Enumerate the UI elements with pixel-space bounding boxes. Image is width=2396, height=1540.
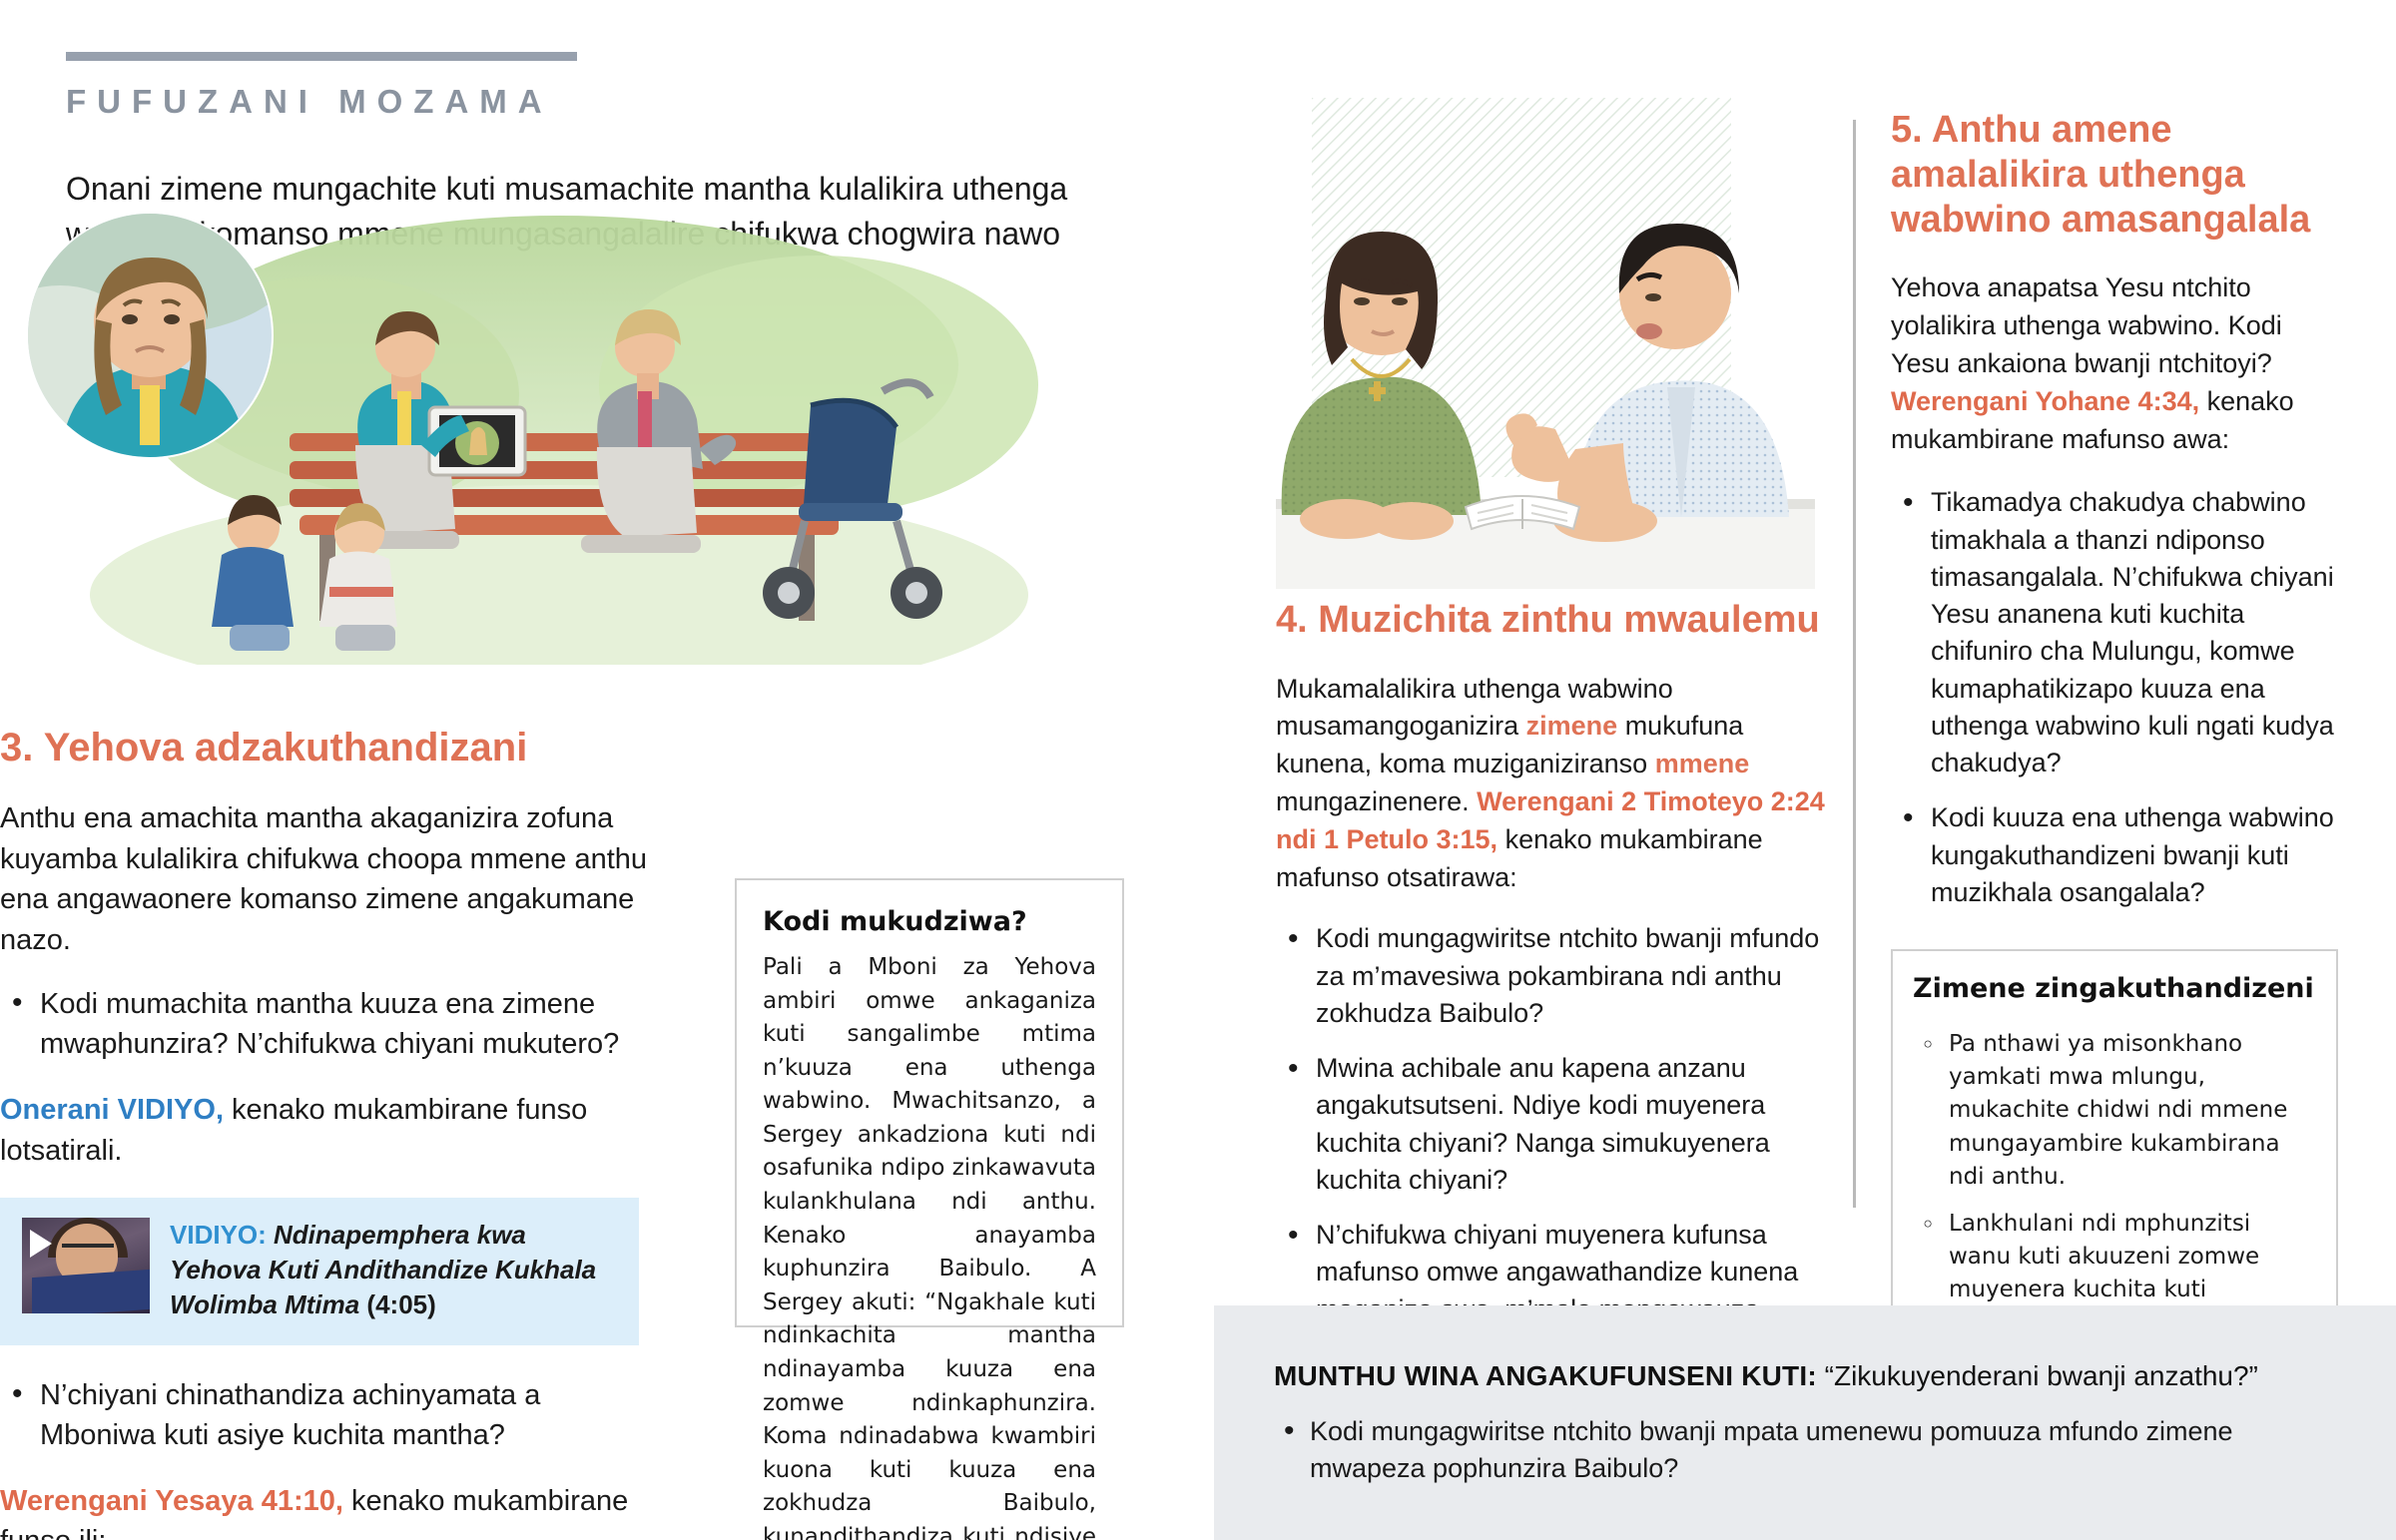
list-item: Kodi mungagwiritse ntchito bwanji mfundo… (1276, 920, 1845, 1032)
video-caption: VIDIYO: Ndinapemphera kwa Yehova Kuti An… (170, 1218, 617, 1323)
scripture-cue: Werengani Yesaya 41:10, kenako mukambira… (0, 1481, 659, 1540)
footer-heading: MUNTHU WINA ANGAKUFUNSENI KUTI: “Zikukuy… (1274, 1357, 2336, 1395)
kicker-rule (66, 52, 577, 61)
section-3-bullet-list-1: Kodi mumachita mantha kuuza ena zimene m… (0, 984, 659, 1064)
footer-label: MUNTHU WINA ANGAKUFUNSENI KUTI: (1274, 1360, 1817, 1391)
helps-box-heading: Zimene zingakuthandizeni (1913, 973, 2314, 1004)
s4-highlight-mmene: mmene (1655, 749, 1750, 778)
section-kicker: FUFUZANI MOZAMA (66, 83, 1176, 121)
list-item: Mwina achibale anu kapena anzanu angakut… (1276, 1050, 1845, 1199)
video-cue: Onerani VIDIYO, kenako mukambirane funso… (0, 1090, 659, 1171)
s4-highlight-zimene: zimene (1526, 711, 1618, 741)
column-divider (1853, 120, 1856, 1208)
section-3-paragraph: Anthu ena amachita mantha akaganizira zo… (0, 798, 659, 960)
section-3-heading: 3. Yehova adzakuthandizani (0, 725, 659, 770)
list-item: Kodi mungagwiritse ntchito bwanji mpata … (1274, 1413, 2336, 1486)
glasses-icon (62, 1244, 114, 1256)
s5-scripture-reference-link[interactable]: Werengani Yohane 4:34, (1891, 386, 2199, 416)
section-4: 4. Muzichita zinthu mwaulemu Mukamalalik… (1276, 599, 1845, 1383)
list-item: Kodi mumachita mantha kuuza ena zimene m… (0, 984, 659, 1064)
list-item: N’chiyani chinathandiza achinyamata a Mb… (0, 1375, 659, 1455)
section-4-paragraph: Mukamalalikira uthenga wabwino musamango… (1276, 671, 1845, 897)
list-item: Tikamadya chakudya chabwino timakhala a … (1891, 484, 2338, 781)
section-5-bullet-list: Tikamadya chakudya chabwino timakhala a … (1891, 484, 2338, 911)
did-you-know-heading: Kodi mukudziwa? (763, 906, 1096, 937)
watch-video-link[interactable]: Onerani VIDIYO, (0, 1094, 224, 1126)
footer-quote: “Zikukuyenderani bwanji anzathu?” (1817, 1360, 2258, 1391)
section-3-bullet-list-2: N’chiyani chinathandiza achinyamata a Mb… (0, 1375, 659, 1455)
conversation-starter-band: MUNTHU WINA ANGAKUFUNSENI KUTI: “Zikukuy… (1214, 1305, 2396, 1540)
list-item: Pa nthawi ya misonkhano yamkati mwa mlun… (1913, 1028, 2314, 1194)
section-3: 3. Yehova adzakuthandizani Anthu ena ama… (0, 725, 659, 1540)
section-5-paragraph: Yehova anapatsa Yesu ntchito yolalikira … (1891, 269, 2338, 458)
scripture-reference-link[interactable]: Werengani Yesaya 41:10, (0, 1485, 343, 1517)
did-you-know-box: Kodi mukudziwa? Pali a Mboni za Yehova a… (735, 878, 1124, 1327)
video-thumbnail[interactable] (22, 1218, 150, 1313)
list-item: Kodi kuuza ena uthenga wabwino kungakuth… (1891, 799, 2338, 911)
did-you-know-body: Pali a Mboni za Yehova ambiri omwe ankag… (763, 951, 1096, 1540)
section-5-heading: 5. Anthu amene amalalikira uthenga wabwi… (1891, 108, 2338, 242)
table-conversation-illustration (1276, 70, 1815, 589)
video-label: VIDIYO: (170, 1220, 267, 1250)
thumb-book (32, 1269, 150, 1312)
video-card[interactable]: VIDIYO: Ndinapemphera kwa Yehova Kuti An… (0, 1198, 639, 1345)
article-page: FUFUZANI MOZAMA Onani zimene mungachite … (0, 0, 2396, 1540)
section-4-heading: 4. Muzichita zinthu mwaulemu (1276, 599, 1845, 643)
s5-text-a: Yehova anapatsa Yesu ntchito yolalikira … (1891, 272, 2282, 378)
section-4-bullet-list: Kodi mungagwiritse ntchito bwanji mfundo… (1276, 920, 1845, 1365)
video-duration: (4:05) (359, 1289, 436, 1319)
play-icon[interactable] (30, 1230, 52, 1258)
footer-bullet-list: Kodi mungagwiritse ntchito bwanji mpata … (1274, 1413, 2336, 1486)
s4-text-c: mungazinenere. (1276, 786, 1477, 816)
park-bench-witnessing-illustration (0, 196, 1058, 665)
